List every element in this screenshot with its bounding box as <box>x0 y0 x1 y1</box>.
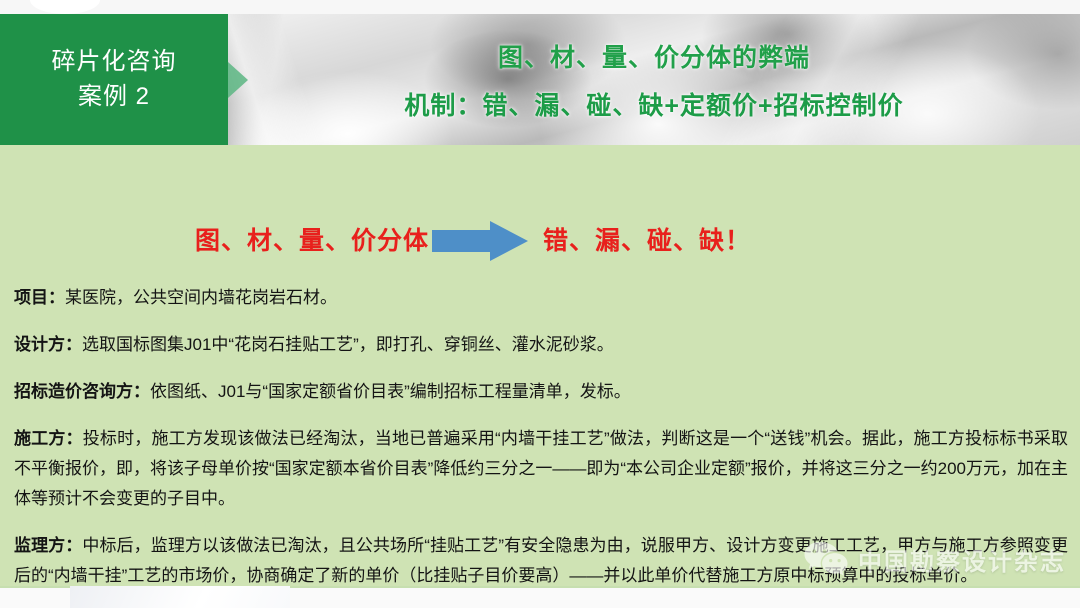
headline-left-text: 图、材、量、价分体 <box>195 221 429 257</box>
paragraph-body: 投标时，施工方发现该做法已经淘汰，当地已普遍采用“内墙干挂工艺”做法，判断这是一… <box>14 429 1068 508</box>
watermark-text: 中国勘察设计杂志 <box>858 542 1066 577</box>
paragraph-label: 监理方： <box>14 536 82 555</box>
headline-right-text: 错、漏、碰、缺！ <box>543 221 751 257</box>
banner-title-line-2: 机制：错、漏、碰、缺+定额价+招标控制价 <box>404 86 903 122</box>
paragraph-label: 设计方： <box>14 335 82 354</box>
header-banner-image: 图、材、量、价分体的弊端 机制：错、漏、碰、缺+定额价+招标控制价 <box>228 14 1080 145</box>
bottom-left-shape <box>70 586 290 608</box>
paragraph-body: 某医院，公共空间内墙花岗岩石材。 <box>65 288 337 307</box>
top-white-strip <box>0 0 1080 14</box>
wechat-icon <box>803 540 849 578</box>
paragraph-label: 施工方： <box>14 429 83 448</box>
case-tag-pointer-icon <box>228 62 248 98</box>
paragraph-project: 项目：某医院，公共空间内墙花岗岩石材。 <box>14 283 1068 313</box>
banner-title-group: 图、材、量、价分体的弊端 机制：错、漏、碰、缺+定额价+招标控制价 <box>228 14 1080 145</box>
paragraph-contractor: 施工方：投标时，施工方发现该做法已经淘汰，当地已普遍采用“内墙干挂工艺”做法，判… <box>14 424 1068 514</box>
bottom-white-bar <box>0 586 1080 608</box>
paragraph-label: 招标造价咨询方： <box>14 382 150 401</box>
case-tag-block: 碎片化咨询 案例 2 <box>0 14 228 145</box>
case-tag-label: 碎片化咨询 案例 2 <box>52 45 177 115</box>
banner-title-line-1: 图、材、量、价分体的弊端 <box>498 38 810 74</box>
paragraph-body: 选取国标图集J01中“花岗石挂贴工艺”，即打孔、穿铜丝、灌水泥砂浆。 <box>82 335 614 354</box>
paragraph-label: 项目： <box>14 288 65 307</box>
slide-canvas: 图、材、量、价分体的弊端 机制：错、漏、碰、缺+定额价+招标控制价 碎片化咨询 … <box>0 0 1080 608</box>
watermark: 中国勘察设计杂志 <box>803 540 1066 578</box>
paragraph-cost-consultant: 招标造价咨询方：依图纸、J01与“国家定额省价目表”编制招标工程量清单，发标。 <box>14 377 1068 407</box>
paragraph-designer: 设计方：选取国标图集J01中“花岗石挂贴工艺”，即打孔、穿铜丝、灌水泥砂浆。 <box>14 330 1068 360</box>
paragraph-body: 依图纸、J01与“国家定额省价目表”编制招标工程量清单，发标。 <box>150 382 631 401</box>
headline-row: 图、材、量、价分体 错、漏、碰、缺！ <box>0 216 1080 262</box>
top-left-blob <box>30 0 100 14</box>
right-arrow-icon <box>432 221 528 261</box>
